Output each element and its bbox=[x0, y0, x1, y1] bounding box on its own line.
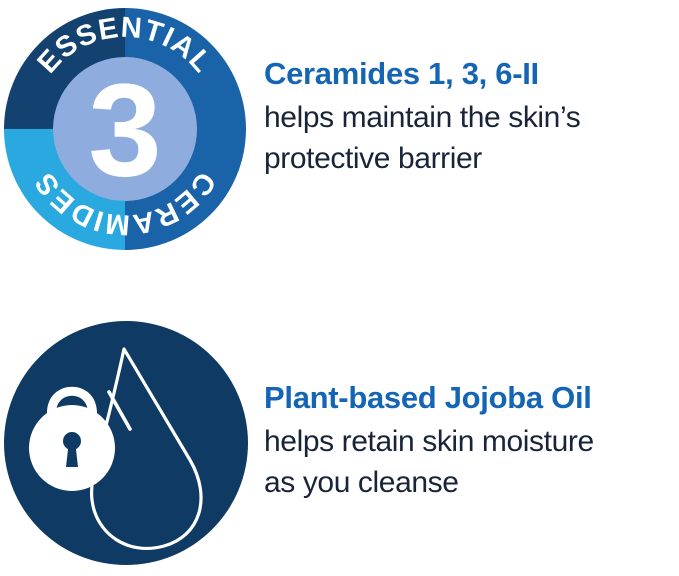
benefit-title: Ceramides 1, 3, 6-II bbox=[264, 54, 580, 94]
badge-center-number: 3 bbox=[88, 57, 161, 204]
benefits-panel: ESSENTIAL CERAMIDES 3 Ceramides 1, 3, 6-… bbox=[0, 0, 679, 576]
benefit-description-line: helps retain skin moisture bbox=[264, 421, 594, 462]
benefit-description-line: helps maintain the skin’s bbox=[264, 97, 580, 138]
benefit-item-jojoba-oil: Plant-based Jojoba Oil helps retain skin… bbox=[4, 320, 594, 570]
benefit-description-line: as you cleanse bbox=[264, 462, 594, 503]
benefit-text-ceramides: Ceramides 1, 3, 6-II helps maintain the … bbox=[264, 4, 580, 179]
essential-3-ceramides-badge-icon: ESSENTIAL CERAMIDES 3 bbox=[0, 4, 250, 254]
benefit-description-line: protective barrier bbox=[264, 138, 580, 179]
benefit-title: Plant-based Jojoba Oil bbox=[264, 378, 594, 418]
benefit-text-jojoba-oil: Plant-based Jojoba Oil helps retain skin… bbox=[264, 320, 594, 503]
benefit-item-ceramides: ESSENTIAL CERAMIDES 3 Ceramides 1, 3, 6-… bbox=[0, 4, 580, 254]
locked-water-droplet-icon bbox=[4, 320, 256, 570]
